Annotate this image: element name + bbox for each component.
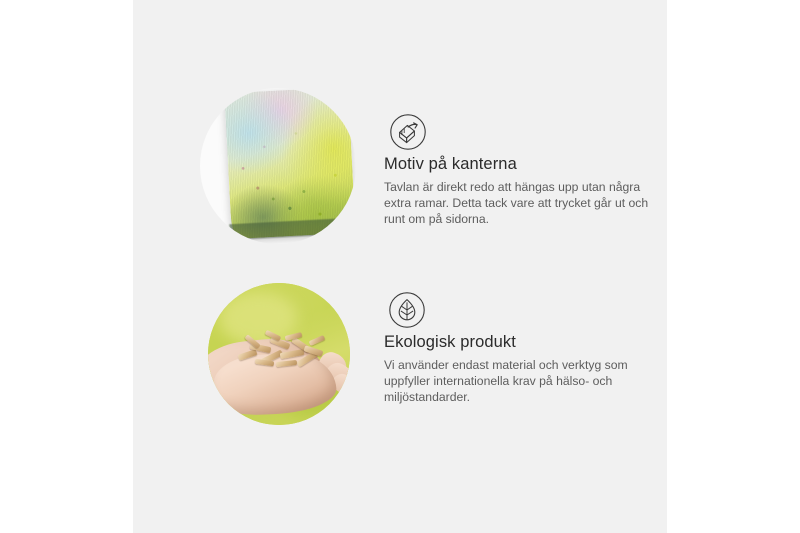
hands-holding-wood-chips-photo	[208, 283, 350, 425]
leaf-icon	[387, 290, 427, 330]
content-panel: Motiv på kanterna Tavlan är direkt redo …	[133, 0, 667, 533]
feature-title: Ekologisk produkt	[384, 333, 669, 353]
eco-photo-content	[208, 283, 350, 425]
feature-text-ekologisk-produkt: Ekologisk produkt Vi använder endast mat…	[384, 333, 669, 405]
feature-description: Tavlan är direkt redo att hängas upp uta…	[384, 179, 654, 228]
canvas-edge-wrap-icon	[388, 112, 428, 152]
feature-text-motiv-pa-kanterna: Motiv på kanterna Tavlan är direkt redo …	[384, 155, 654, 227]
canvas-artwork	[224, 88, 355, 239]
canvas-print-corner-photo	[200, 88, 356, 244]
feature-title: Motiv på kanterna	[384, 155, 654, 175]
product-feature-infographic: Motiv på kanterna Tavlan är direkt redo …	[0, 0, 800, 533]
feature-description: Vi använder endast material och verktyg …	[384, 357, 669, 406]
wood-chips-pile	[236, 331, 330, 379]
